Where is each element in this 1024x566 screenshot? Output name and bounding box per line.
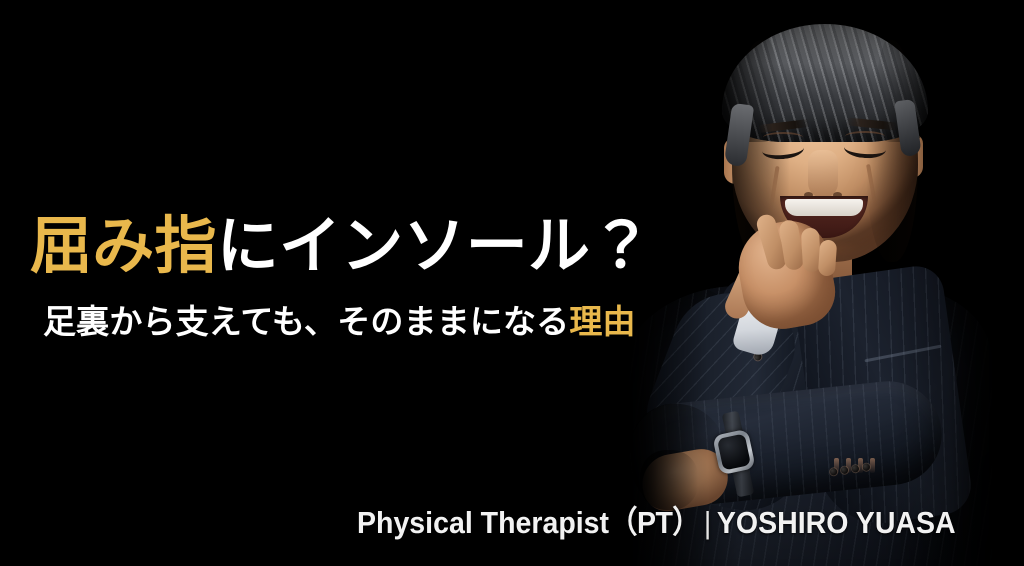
credit-name: YOSHIRO YUASA — [717, 505, 956, 540]
subtitle-accent-text: 理由 — [569, 303, 635, 340]
thumbnail-canvas: 屈み指にインソール？ 足裏から支えても、そのままになる理由 Physical T… — [0, 0, 1024, 566]
finger-pinky — [818, 239, 837, 276]
headline-accent-text: 屈み指 — [30, 212, 217, 281]
credit-qualification: （PT） — [609, 505, 700, 540]
watch-face — [717, 433, 751, 470]
hand-tucked-shadow — [640, 450, 698, 510]
subtitle-main-text: 足裏から支えても、そのままになる — [43, 303, 569, 340]
credit-line: Physical Therapist（PT）|YOSHIRO YUASA — [357, 505, 956, 541]
portrait-photo — [612, 0, 1024, 566]
nose — [808, 150, 838, 198]
subtitle: 足裏から支えても、そのままになる理由 — [43, 303, 636, 342]
headline-main-text: にインソール？ — [217, 212, 653, 281]
credit-role: Physical Therapist — [357, 505, 609, 540]
headline: 屈み指にインソール？ — [30, 214, 653, 280]
sleeve-stitch-lower-4 — [870, 458, 875, 473]
credit-separator: | — [700, 505, 717, 541]
teeth — [785, 199, 863, 216]
